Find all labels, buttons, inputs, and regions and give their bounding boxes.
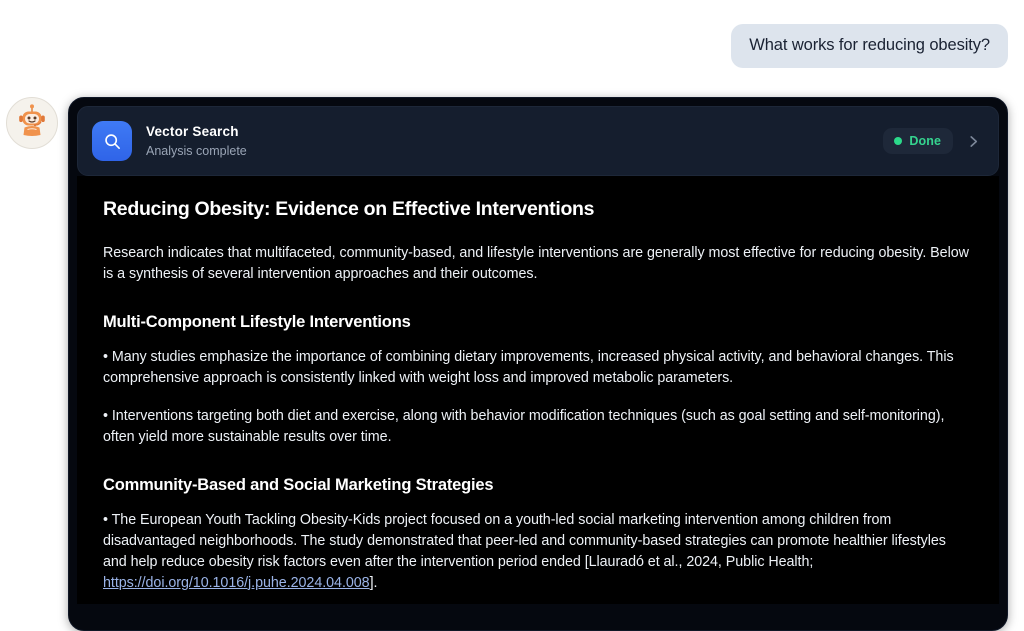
tool-card-header[interactable]: Vector Search Analysis complete Done <box>77 106 999 176</box>
status-label: Done <box>909 134 941 148</box>
status-badge: Done <box>883 128 953 154</box>
bullet-item: • Many studies emphasize the importance … <box>103 347 973 389</box>
status-dot-icon <box>894 137 902 145</box>
robot-avatar-icon <box>14 103 50 144</box>
chevron-right-icon[interactable] <box>963 131 984 152</box>
intro-paragraph: Research indicates that multifaceted, co… <box>103 243 973 285</box>
doi-link[interactable]: https://doi.org/10.1016/j.puhe.2024.04.0… <box>103 575 370 591</box>
user-message-bubble: What works for reducing obesity? <box>731 24 1008 68</box>
tool-result-card: Vector Search Analysis complete Done Red… <box>68 97 1008 631</box>
citation-text-after: ]. <box>370 575 378 591</box>
section-heading-community: Community-Based and Social Marketing Str… <box>103 476 973 495</box>
tool-subtitle: Analysis complete <box>146 142 883 160</box>
avatar <box>6 97 58 149</box>
tool-card-body: Reducing Obesity: Evidence on Effective … <box>77 176 999 603</box>
assistant-message-row: Vector Search Analysis complete Done Red… <box>0 97 1024 631</box>
bullet-item: • Interventions targeting both diet and … <box>103 406 973 448</box>
page-title: Reducing Obesity: Evidence on Effective … <box>103 198 973 221</box>
citation-text-before: • The European Youth Tackling Obesity-Ki… <box>103 512 946 570</box>
user-message-row: What works for reducing obesity? <box>0 0 1024 68</box>
tool-meta: Vector Search Analysis complete <box>146 123 883 160</box>
tool-title: Vector Search <box>146 123 883 141</box>
search-icon <box>92 121 132 161</box>
bullet-item-with-citation: • The European Youth Tackling Obesity-Ki… <box>103 510 973 594</box>
section-heading-lifestyle: Multi-Component Lifestyle Interventions <box>103 313 973 332</box>
